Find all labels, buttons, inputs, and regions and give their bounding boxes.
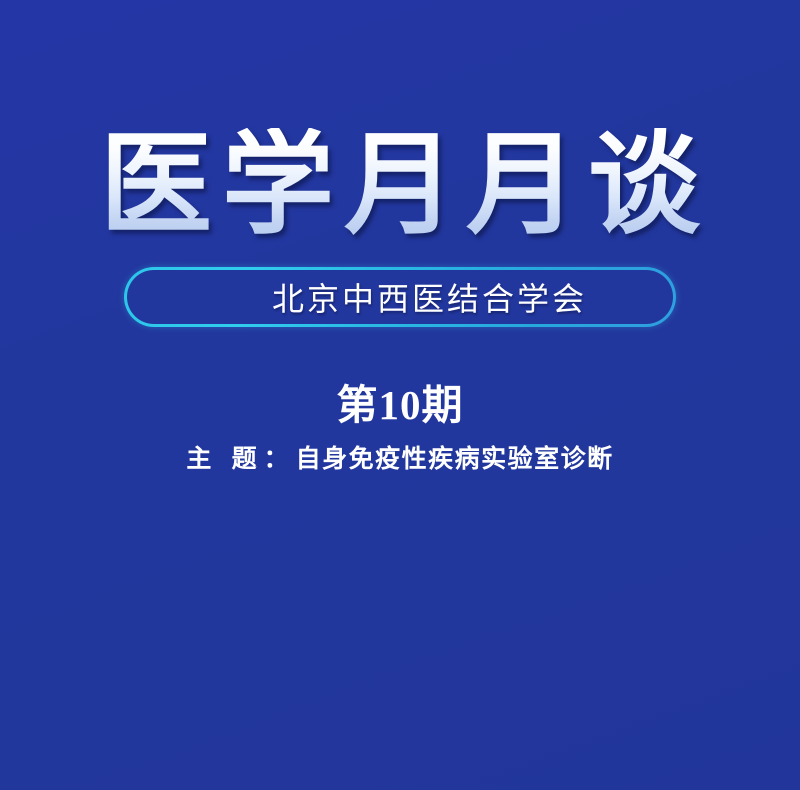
subject-value: 自身免疫性疾病实验室诊断 <box>296 446 614 473</box>
title-block: 医学月月谈 <box>0 128 800 246</box>
poster-canvas: 医学月月谈 北京中西医结合学会 第10期 主 题：自身免疫性疾病实验室诊断 <box>0 0 800 790</box>
organization-badge-label: 北京中西医结合学会 <box>269 274 587 320</box>
subject-line: 主 题：自身免疫性疾病实验室诊断 <box>0 439 800 475</box>
episode-number: 第10期 <box>0 371 800 431</box>
page-title: 医学月月谈 <box>90 128 710 246</box>
organization-badge: 北京中西医结合学会 <box>124 267 676 327</box>
subject-label: 主 题： <box>186 446 295 473</box>
